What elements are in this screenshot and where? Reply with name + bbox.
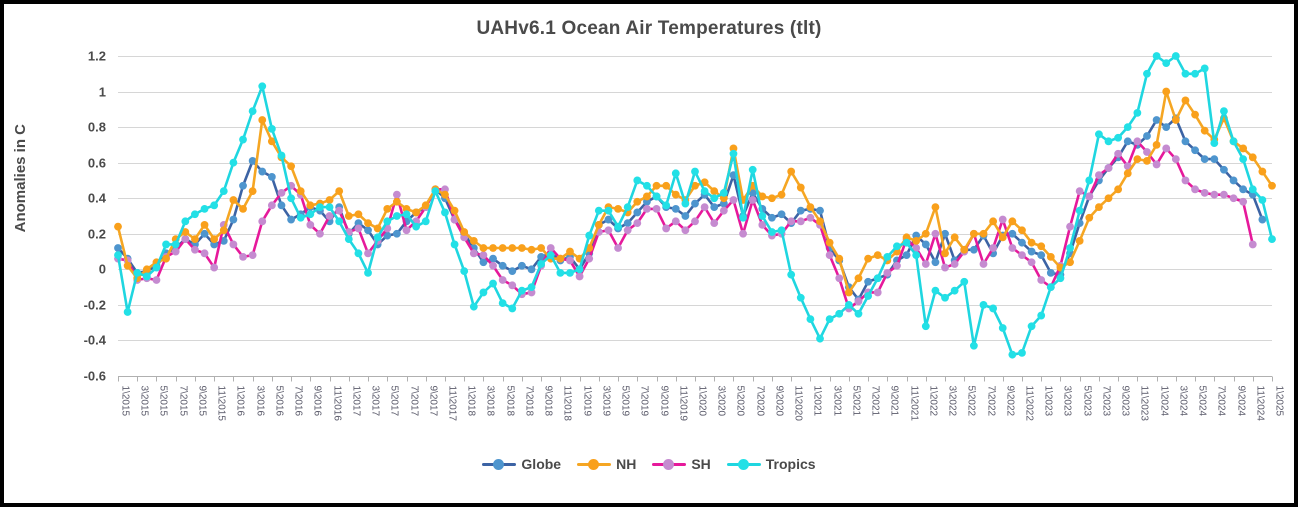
legend-dot-sh bbox=[663, 459, 674, 470]
data-point bbox=[1210, 191, 1218, 199]
data-point bbox=[787, 168, 795, 176]
legend-swatch-tropics bbox=[727, 457, 761, 471]
data-point bbox=[480, 244, 488, 252]
data-point bbox=[624, 219, 632, 227]
data-point bbox=[1249, 241, 1257, 249]
x-tick-label: 5\2016 bbox=[274, 386, 285, 417]
data-point bbox=[633, 198, 641, 206]
data-point bbox=[1057, 274, 1065, 282]
data-point bbox=[855, 297, 863, 305]
data-point bbox=[210, 201, 218, 209]
data-point bbox=[508, 281, 516, 289]
data-point bbox=[595, 221, 603, 229]
data-point bbox=[403, 226, 411, 234]
x-tick-label: 7\2016 bbox=[293, 386, 304, 417]
data-point bbox=[681, 212, 689, 220]
data-point bbox=[941, 249, 949, 257]
data-point bbox=[585, 232, 593, 240]
data-point bbox=[816, 207, 824, 215]
x-tick-label: 1\2021 bbox=[812, 386, 823, 417]
data-point bbox=[239, 253, 247, 261]
data-point bbox=[633, 177, 641, 185]
data-point bbox=[470, 249, 478, 257]
data-point bbox=[1133, 155, 1141, 163]
data-point bbox=[1239, 145, 1247, 153]
data-point bbox=[960, 246, 968, 254]
x-tick-label: 11\2024 bbox=[1255, 386, 1266, 422]
data-point bbox=[345, 212, 353, 220]
data-point bbox=[941, 294, 949, 302]
data-point bbox=[278, 201, 286, 209]
data-point bbox=[903, 239, 911, 247]
data-point bbox=[1076, 237, 1084, 245]
data-point bbox=[383, 217, 391, 225]
data-point bbox=[1047, 253, 1055, 261]
data-point bbox=[1162, 123, 1170, 131]
data-point bbox=[1037, 312, 1045, 320]
data-point bbox=[441, 209, 449, 217]
series-line-globe bbox=[118, 118, 1262, 299]
data-point bbox=[258, 168, 266, 176]
legend-label-nh: NH bbox=[616, 456, 636, 472]
data-point bbox=[210, 264, 218, 272]
data-point bbox=[970, 342, 978, 350]
data-point bbox=[662, 201, 670, 209]
data-point bbox=[864, 255, 872, 263]
data-point bbox=[1047, 283, 1055, 291]
data-point bbox=[518, 287, 526, 295]
data-point bbox=[547, 251, 555, 259]
data-point bbox=[1105, 164, 1113, 172]
x-tick-label: 5\2015 bbox=[158, 386, 169, 417]
x-tick-label: 3\2021 bbox=[832, 386, 843, 417]
data-point bbox=[1239, 198, 1247, 206]
legend-swatch-sh bbox=[652, 457, 686, 471]
data-point bbox=[710, 187, 718, 195]
data-point bbox=[797, 207, 805, 215]
data-point bbox=[989, 305, 997, 313]
data-point bbox=[662, 225, 670, 233]
data-point bbox=[768, 194, 776, 202]
data-point bbox=[681, 200, 689, 208]
data-point bbox=[614, 244, 622, 252]
x-tick-label: 9\2020 bbox=[774, 386, 785, 417]
x-tick-label: 9\2023 bbox=[1120, 386, 1131, 417]
data-point bbox=[547, 244, 555, 252]
x-tick-label: 9\2024 bbox=[1236, 386, 1247, 417]
x-tick-label: 1\2019 bbox=[582, 386, 593, 417]
data-point bbox=[932, 230, 940, 238]
data-point bbox=[605, 226, 613, 234]
data-point bbox=[1201, 65, 1209, 73]
data-point bbox=[422, 201, 430, 209]
data-point bbox=[162, 241, 170, 249]
data-point bbox=[306, 201, 314, 209]
data-point bbox=[1124, 137, 1132, 145]
data-point bbox=[1095, 203, 1103, 211]
data-point bbox=[883, 269, 891, 277]
data-point bbox=[124, 308, 132, 316]
data-point bbox=[749, 196, 757, 204]
y-tick-label: 0.8 bbox=[88, 120, 106, 135]
data-point bbox=[460, 267, 468, 275]
y-tick-label: 0 bbox=[99, 262, 106, 277]
data-point bbox=[566, 248, 574, 256]
x-tick-label: 1\2016 bbox=[235, 386, 246, 417]
data-point bbox=[1047, 269, 1055, 277]
data-point bbox=[1037, 242, 1045, 250]
data-point bbox=[624, 226, 632, 234]
data-point bbox=[960, 278, 968, 286]
data-point bbox=[970, 246, 978, 254]
data-point bbox=[893, 262, 901, 270]
data-point bbox=[470, 303, 478, 311]
x-tick-label: 9\2022 bbox=[1005, 386, 1016, 417]
data-point bbox=[778, 191, 786, 199]
data-point bbox=[1230, 177, 1238, 185]
data-point bbox=[1133, 109, 1141, 117]
data-point bbox=[306, 221, 314, 229]
data-point bbox=[932, 287, 940, 295]
data-point bbox=[797, 294, 805, 302]
data-point bbox=[210, 235, 218, 243]
data-point bbox=[835, 310, 843, 318]
x-tick-label: 5\2020 bbox=[735, 386, 746, 417]
x-tick-label: 3\2022 bbox=[947, 386, 958, 417]
data-point bbox=[499, 262, 507, 270]
data-point bbox=[566, 257, 574, 265]
legend-item-nh[interactable]: NH bbox=[577, 456, 636, 472]
data-point bbox=[989, 244, 997, 252]
data-point bbox=[807, 203, 815, 211]
data-point bbox=[153, 264, 161, 272]
data-point bbox=[816, 335, 824, 343]
data-point bbox=[143, 265, 151, 273]
data-point bbox=[374, 233, 382, 241]
data-point bbox=[326, 196, 334, 204]
x-tick-label: 5\2018 bbox=[505, 386, 516, 417]
data-point bbox=[768, 228, 776, 236]
data-point bbox=[528, 283, 536, 291]
data-point bbox=[230, 159, 238, 167]
data-point bbox=[1220, 191, 1228, 199]
x-tick-label: 7\2022 bbox=[986, 386, 997, 417]
data-point bbox=[172, 248, 180, 256]
data-point bbox=[883, 253, 891, 261]
legend-swatch-nh bbox=[577, 457, 611, 471]
data-point bbox=[1172, 155, 1180, 163]
data-point bbox=[614, 205, 622, 213]
data-point bbox=[1028, 248, 1036, 256]
data-point bbox=[1258, 216, 1266, 224]
data-point bbox=[528, 265, 536, 273]
data-point bbox=[980, 230, 988, 238]
data-point bbox=[1201, 155, 1209, 163]
chart-frame: UAHv6.1 Ocean Air Temperatures (tlt) Ano… bbox=[4, 4, 1294, 503]
data-point bbox=[1037, 276, 1045, 284]
data-point bbox=[1066, 244, 1074, 252]
data-point bbox=[1124, 123, 1132, 131]
data-point bbox=[1191, 111, 1199, 119]
data-point bbox=[710, 203, 718, 211]
data-point bbox=[1182, 137, 1190, 145]
data-point bbox=[1085, 177, 1093, 185]
x-tick-label: 11\2015 bbox=[216, 386, 227, 422]
data-point bbox=[451, 241, 459, 249]
data-point bbox=[826, 239, 834, 247]
data-point bbox=[489, 262, 497, 270]
x-tick-label: 5\2021 bbox=[851, 386, 862, 417]
data-point bbox=[1018, 226, 1026, 234]
data-point bbox=[422, 217, 430, 225]
data-point bbox=[393, 230, 401, 238]
data-point bbox=[1249, 185, 1257, 193]
data-point bbox=[1133, 137, 1141, 145]
data-point bbox=[355, 210, 363, 218]
x-tick-label: 7\2017 bbox=[409, 386, 420, 417]
data-point bbox=[1028, 322, 1036, 330]
x-tick-label: 11\2020 bbox=[793, 386, 804, 422]
data-point bbox=[951, 260, 959, 268]
data-point bbox=[922, 322, 930, 330]
data-point bbox=[1191, 185, 1199, 193]
x-tick-label: 7\2019 bbox=[639, 386, 650, 417]
data-point bbox=[335, 217, 343, 225]
x-tick-label: 5\2024 bbox=[1197, 386, 1208, 417]
data-point bbox=[191, 235, 199, 243]
data-point bbox=[537, 260, 545, 268]
data-point bbox=[1085, 193, 1093, 201]
x-tick-label: 3\2016 bbox=[255, 386, 266, 417]
x-tick-label: 9\2016 bbox=[312, 386, 323, 417]
data-point bbox=[297, 187, 305, 195]
legend-dot-nh bbox=[588, 459, 599, 470]
data-point bbox=[268, 173, 276, 181]
data-point bbox=[739, 214, 747, 222]
data-point bbox=[1143, 132, 1151, 140]
y-axis-ticks: 1.210.80.60.40.20-0.2-0.4-0.6 bbox=[84, 49, 107, 384]
data-point bbox=[403, 210, 411, 218]
data-point bbox=[893, 242, 901, 250]
data-point bbox=[797, 184, 805, 192]
data-point bbox=[268, 201, 276, 209]
data-point bbox=[518, 262, 526, 270]
data-point bbox=[585, 255, 593, 263]
data-point bbox=[710, 219, 718, 227]
x-tick-label: 11\2018 bbox=[562, 386, 573, 422]
data-point bbox=[1201, 127, 1209, 135]
data-point bbox=[1220, 166, 1228, 174]
data-point bbox=[1230, 137, 1238, 145]
x-tick-label: 3\2023 bbox=[1062, 386, 1073, 417]
data-point bbox=[951, 233, 959, 241]
x-tick-label: 1\2020 bbox=[697, 386, 708, 417]
x-tick-label: 9\2021 bbox=[889, 386, 900, 417]
data-point bbox=[258, 116, 266, 124]
data-point bbox=[1028, 258, 1036, 266]
data-point bbox=[633, 219, 641, 227]
data-point bbox=[364, 219, 372, 227]
data-point bbox=[230, 216, 238, 224]
data-point bbox=[701, 203, 709, 211]
data-point bbox=[845, 301, 853, 309]
data-point bbox=[1182, 97, 1190, 105]
data-point bbox=[412, 223, 420, 231]
data-point bbox=[1018, 349, 1026, 357]
data-point bbox=[576, 265, 584, 273]
data-point bbox=[778, 210, 786, 218]
data-point bbox=[1191, 70, 1199, 78]
data-point bbox=[306, 210, 314, 218]
x-tick-label: 1\2023 bbox=[1043, 386, 1054, 417]
data-point bbox=[201, 249, 209, 257]
data-point bbox=[835, 274, 843, 282]
data-point bbox=[480, 289, 488, 297]
y-tick-label: -0.6 bbox=[84, 369, 106, 384]
data-point bbox=[508, 267, 516, 275]
data-point bbox=[1182, 177, 1190, 185]
data-point bbox=[335, 207, 343, 215]
data-point bbox=[1037, 251, 1045, 259]
data-point bbox=[710, 194, 718, 202]
data-point bbox=[451, 207, 459, 215]
data-point bbox=[739, 230, 747, 238]
data-point bbox=[518, 244, 526, 252]
data-point bbox=[239, 136, 247, 144]
data-point bbox=[614, 223, 622, 231]
data-point bbox=[124, 262, 132, 270]
x-tick-label: 7\2018 bbox=[524, 386, 535, 417]
y-tick-label: 0.6 bbox=[88, 156, 106, 171]
data-point bbox=[807, 214, 815, 222]
data-point bbox=[278, 189, 286, 197]
data-point bbox=[807, 315, 815, 323]
data-point bbox=[1172, 116, 1180, 124]
data-point bbox=[912, 237, 920, 245]
data-point bbox=[1095, 130, 1103, 138]
data-point bbox=[181, 235, 189, 243]
data-point bbox=[749, 166, 757, 174]
data-point bbox=[220, 226, 228, 234]
data-point bbox=[835, 255, 843, 263]
data-point bbox=[633, 209, 641, 217]
data-point bbox=[672, 205, 680, 213]
data-point bbox=[1182, 70, 1190, 78]
data-point bbox=[787, 217, 795, 225]
data-point bbox=[230, 241, 238, 249]
data-point bbox=[133, 269, 141, 277]
data-point bbox=[605, 207, 613, 215]
x-tick-label: 9\2017 bbox=[428, 386, 439, 417]
x-tick-label: 1\2018 bbox=[466, 386, 477, 417]
data-point bbox=[999, 324, 1007, 332]
data-point bbox=[114, 244, 122, 252]
data-point bbox=[1114, 150, 1122, 158]
data-point bbox=[1268, 235, 1276, 243]
data-point bbox=[355, 249, 363, 257]
data-point bbox=[941, 264, 949, 272]
data-point bbox=[797, 217, 805, 225]
data-point bbox=[556, 269, 564, 277]
x-tick-label: 3\2018 bbox=[485, 386, 496, 417]
data-point bbox=[1143, 70, 1151, 78]
x-tick-label: 9\2018 bbox=[543, 386, 554, 417]
data-point bbox=[393, 191, 401, 199]
data-point bbox=[364, 269, 372, 277]
data-point bbox=[1105, 137, 1113, 145]
legend-item-tropics[interactable]: Tropics bbox=[727, 456, 816, 472]
data-point bbox=[624, 203, 632, 211]
data-point bbox=[653, 193, 661, 201]
x-tick-label: 5\2017 bbox=[389, 386, 400, 417]
series-globe bbox=[114, 114, 1266, 303]
data-point bbox=[922, 260, 930, 268]
y-tick-label: 0.4 bbox=[88, 191, 107, 206]
x-tick-label: 1\2025 bbox=[1274, 386, 1285, 417]
legend-label-sh: SH bbox=[691, 456, 710, 472]
data-point bbox=[1076, 207, 1084, 215]
data-point bbox=[1114, 134, 1122, 142]
y-tick-label: -0.4 bbox=[84, 333, 107, 348]
data-point bbox=[1008, 217, 1016, 225]
legend-item-sh[interactable]: SH bbox=[652, 456, 710, 472]
x-tick-label: 3\2020 bbox=[716, 386, 727, 417]
data-point bbox=[1201, 189, 1209, 197]
x-tick-label: 3\2019 bbox=[601, 386, 612, 417]
x-tick-label: 5\2019 bbox=[620, 386, 631, 417]
data-point bbox=[239, 205, 247, 213]
x-axis bbox=[118, 377, 1273, 382]
y-tick-label: 0.2 bbox=[88, 227, 106, 242]
data-point bbox=[672, 191, 680, 199]
data-point bbox=[431, 187, 439, 195]
data-point bbox=[730, 196, 738, 204]
data-point bbox=[335, 187, 343, 195]
data-point bbox=[932, 258, 940, 266]
data-point bbox=[681, 226, 689, 234]
data-point bbox=[1162, 59, 1170, 67]
data-point bbox=[114, 223, 122, 231]
data-series bbox=[114, 52, 1276, 358]
data-point bbox=[489, 244, 497, 252]
legend-item-globe[interactable]: Globe bbox=[482, 456, 561, 472]
data-point bbox=[874, 289, 882, 297]
x-tick-label: 3\2024 bbox=[1178, 386, 1189, 417]
data-point bbox=[143, 273, 151, 281]
data-point bbox=[1220, 107, 1228, 115]
data-point bbox=[864, 278, 872, 286]
data-point bbox=[1162, 145, 1170, 153]
data-point bbox=[508, 305, 516, 313]
data-point bbox=[989, 217, 997, 225]
data-point bbox=[1162, 88, 1170, 96]
x-tick-label: 7\2020 bbox=[755, 386, 766, 417]
data-point bbox=[114, 251, 122, 259]
data-point bbox=[278, 152, 286, 160]
data-point bbox=[316, 203, 324, 211]
data-point bbox=[1153, 141, 1161, 149]
data-point bbox=[1076, 187, 1084, 195]
data-point bbox=[999, 233, 1007, 241]
x-tick-label: 3\2015 bbox=[139, 386, 150, 417]
data-point bbox=[1018, 251, 1026, 259]
data-point bbox=[566, 269, 574, 277]
data-point bbox=[1008, 244, 1016, 252]
data-point bbox=[249, 107, 257, 115]
x-tick-label: 7\2015 bbox=[178, 386, 189, 417]
data-point bbox=[201, 221, 209, 229]
data-point bbox=[249, 251, 257, 259]
